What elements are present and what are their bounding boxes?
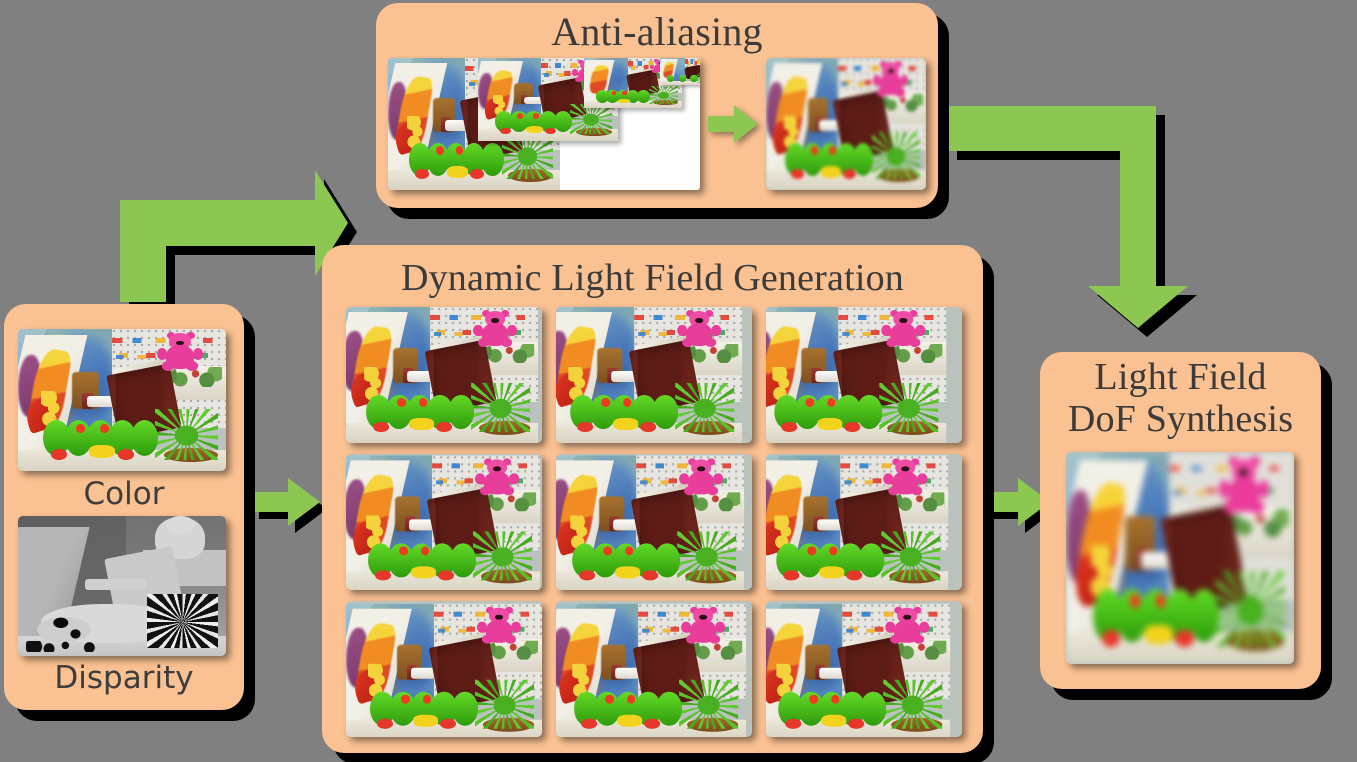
teddy-scene-view-8 (556, 604, 746, 737)
lightfield-view (346, 307, 542, 443)
lightfield-view (556, 601, 752, 737)
lightfield-view (346, 454, 542, 590)
antialiasing-title: Anti-aliasing (376, 12, 938, 53)
elbow-up-right-arrow (110, 92, 350, 307)
lightfield-view (556, 307, 752, 443)
teddy-scene-color (18, 329, 226, 471)
teddy-scene-view-3 (766, 307, 946, 443)
disparity-label: Disparity (4, 660, 244, 696)
lightfield-view (766, 601, 962, 737)
teddy-scene-view-7 (346, 604, 542, 737)
dof-panel: Light Field DoF Synthesis (1040, 352, 1321, 689)
teddy-scene-view-6 (766, 455, 948, 590)
teddy-scene-view-4 (346, 455, 540, 590)
color-photo (18, 329, 226, 471)
lightfield-view (556, 454, 752, 590)
dof-result-photo (1066, 452, 1294, 664)
arrow-right-small-input-to-lightfield (248, 474, 328, 538)
antialiased-result-photo (766, 58, 926, 190)
teddy-scene-aliased-4 (660, 58, 700, 85)
input-panel: Color Disparity (4, 304, 244, 710)
lightfield-view (346, 601, 542, 737)
aliased-view-4 (660, 58, 700, 85)
color-label: Color (4, 476, 244, 512)
teddy-scene-view-2 (556, 307, 742, 443)
disparity-scene (18, 516, 226, 656)
teddy-scene-dof (1066, 452, 1294, 664)
dof-title-line-1: Light Field (1040, 358, 1321, 397)
dof-title-line-2: DoF Synthesis (1040, 400, 1321, 439)
lightfield-view (766, 307, 962, 443)
lightfield-panel: Dynamic Light Field Generation (322, 245, 983, 753)
disparity-map (18, 516, 226, 656)
antialiasing-panel: Anti-aliasing (376, 3, 938, 208)
teddy-scene-view-1 (346, 307, 538, 443)
teddy-scene-view-5 (556, 455, 744, 590)
elbow-right-down-arrow (948, 96, 1218, 336)
lightfield-view-grid (346, 307, 962, 735)
lightfield-view (766, 454, 962, 590)
teddy-scene-view-9 (766, 604, 950, 737)
pipeline-diagram: Color Disparity Anti-aliasing (0, 0, 1357, 762)
lightfield-title: Dynamic Light Field Generation (322, 259, 983, 298)
antialiasing-inner-arrow-right (706, 103, 760, 145)
teddy-scene-antialiased (766, 58, 926, 190)
aliased-staircase (388, 58, 700, 190)
